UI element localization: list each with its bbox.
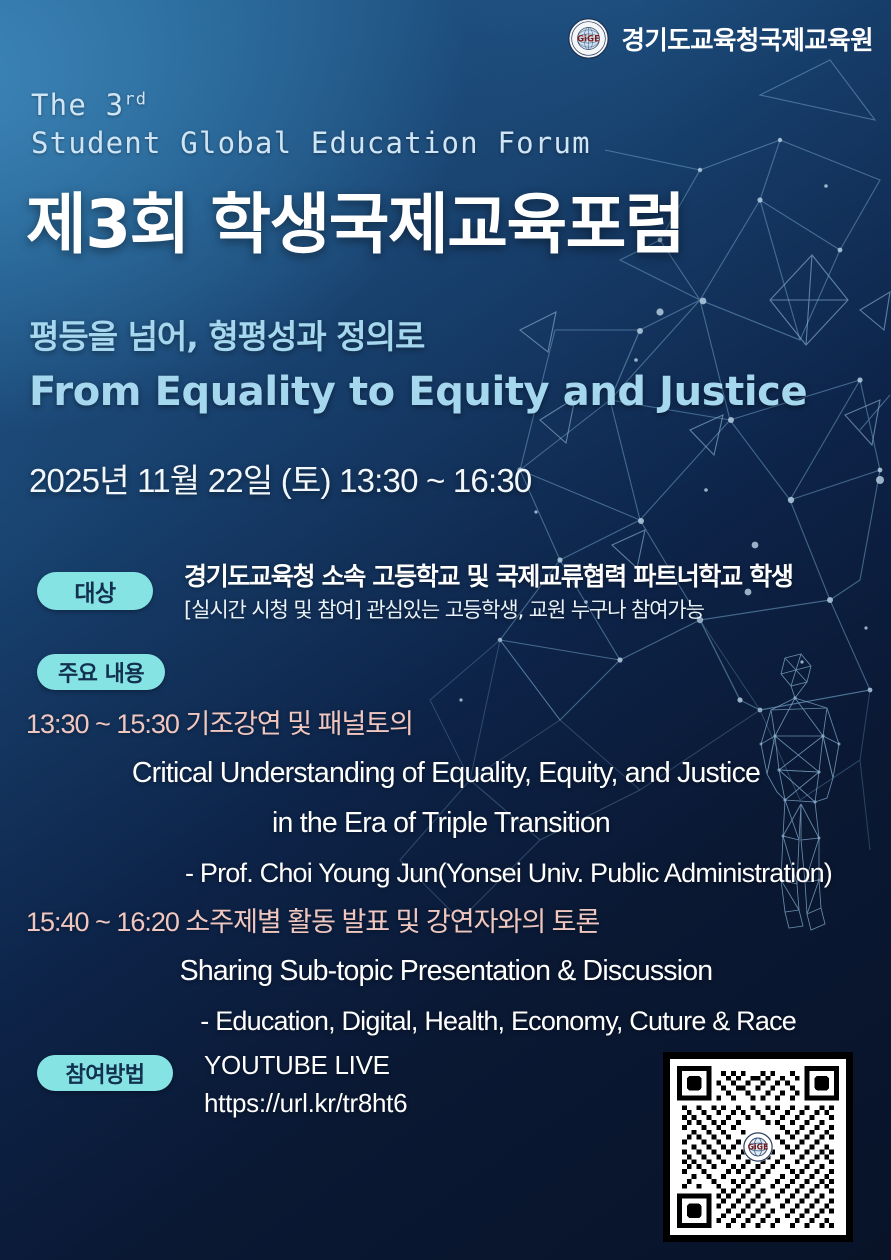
forum-eyebrow: The 3rd Student Global Education Forum (31, 86, 591, 162)
target-audience-badge: 대상 (37, 572, 153, 610)
subtitle-english: From Equality to Equity and Justice (29, 372, 807, 412)
agenda-session: 13:30 ~ 15:30 기조강연 및 패널토의 Critical Under… (26, 700, 866, 898)
session-topics-2: - Education, Digital, Health, Economy, C… (26, 996, 866, 1046)
join-method-text: YOUTUBE LIVE https://url.kr/tr8ht6 (204, 1046, 407, 1122)
join-platform: YOUTUBE LIVE (204, 1046, 407, 1084)
session-speaker-1: - Prof. Choi Young Jun(Yonsei Univ. Publ… (26, 848, 866, 898)
qr-code[interactable]: GiGE (663, 1052, 853, 1242)
join-url[interactable]: https://url.kr/tr8ht6 (204, 1084, 407, 1122)
poster-content: The 3rd Student Global Education Forum 제… (0, 0, 891, 1260)
agenda-list: 13:30 ~ 15:30 기조강연 및 패널토의 Critical Under… (26, 700, 866, 1046)
join-method-badge: 참여방법 (37, 1055, 173, 1091)
qr-center-logo: GiGE (743, 1132, 773, 1162)
subtitle-korean: 평등을 넘어, 형평성과 정의로 (29, 320, 424, 353)
poster-root: GiGE 경기도교육청국제교육원 The 3rd Student Global … (0, 0, 891, 1260)
target-audience-line-1: 경기도교육청 소속 고등학교 및 국제교류협력 파트너학교 학생 (184, 560, 793, 594)
event-datetime: 2025년 11월 22일 (토) 13:30 ~ 16:30 (29, 464, 531, 497)
page-title: 제3회 학생국제교육포럼 (26, 192, 684, 258)
eyebrow-line2: Student Global Education Forum (31, 124, 591, 162)
qr-code-matrix: GiGE (677, 1066, 839, 1228)
session-time-1: 13:30 ~ 15:30 기조강연 및 패널토의 (26, 700, 866, 748)
agenda-session: 15:40 ~ 16:20 소주제별 활동 발표 및 강연자와의 토론 Shar… (26, 898, 866, 1046)
eyebrow-line1: The 3rd (31, 88, 147, 122)
target-audience-line-2: [실시간 시청 및 참여] 관심있는 고등학생, 교원 누구나 참여가능 (184, 594, 793, 626)
gige-globe-logo-icon: GiGE (743, 1132, 773, 1162)
session-title-1-line-2: in the Era of Triple Transition (26, 798, 866, 848)
target-audience-text: 경기도교육청 소속 고등학교 및 국제교류협력 파트너학교 학생 [실시간 시청… (184, 560, 793, 626)
svg-text:GiGE: GiGE (748, 1142, 769, 1151)
session-title-1-line-1: Critical Understanding of Equality, Equi… (26, 748, 866, 798)
session-time-2: 15:40 ~ 16:20 소주제별 활동 발표 및 강연자와의 토론 (26, 898, 866, 946)
agenda-badge: 주요 내용 (37, 654, 165, 690)
session-title-2-line-1: Sharing Sub-topic Presentation & Discuss… (26, 946, 866, 996)
